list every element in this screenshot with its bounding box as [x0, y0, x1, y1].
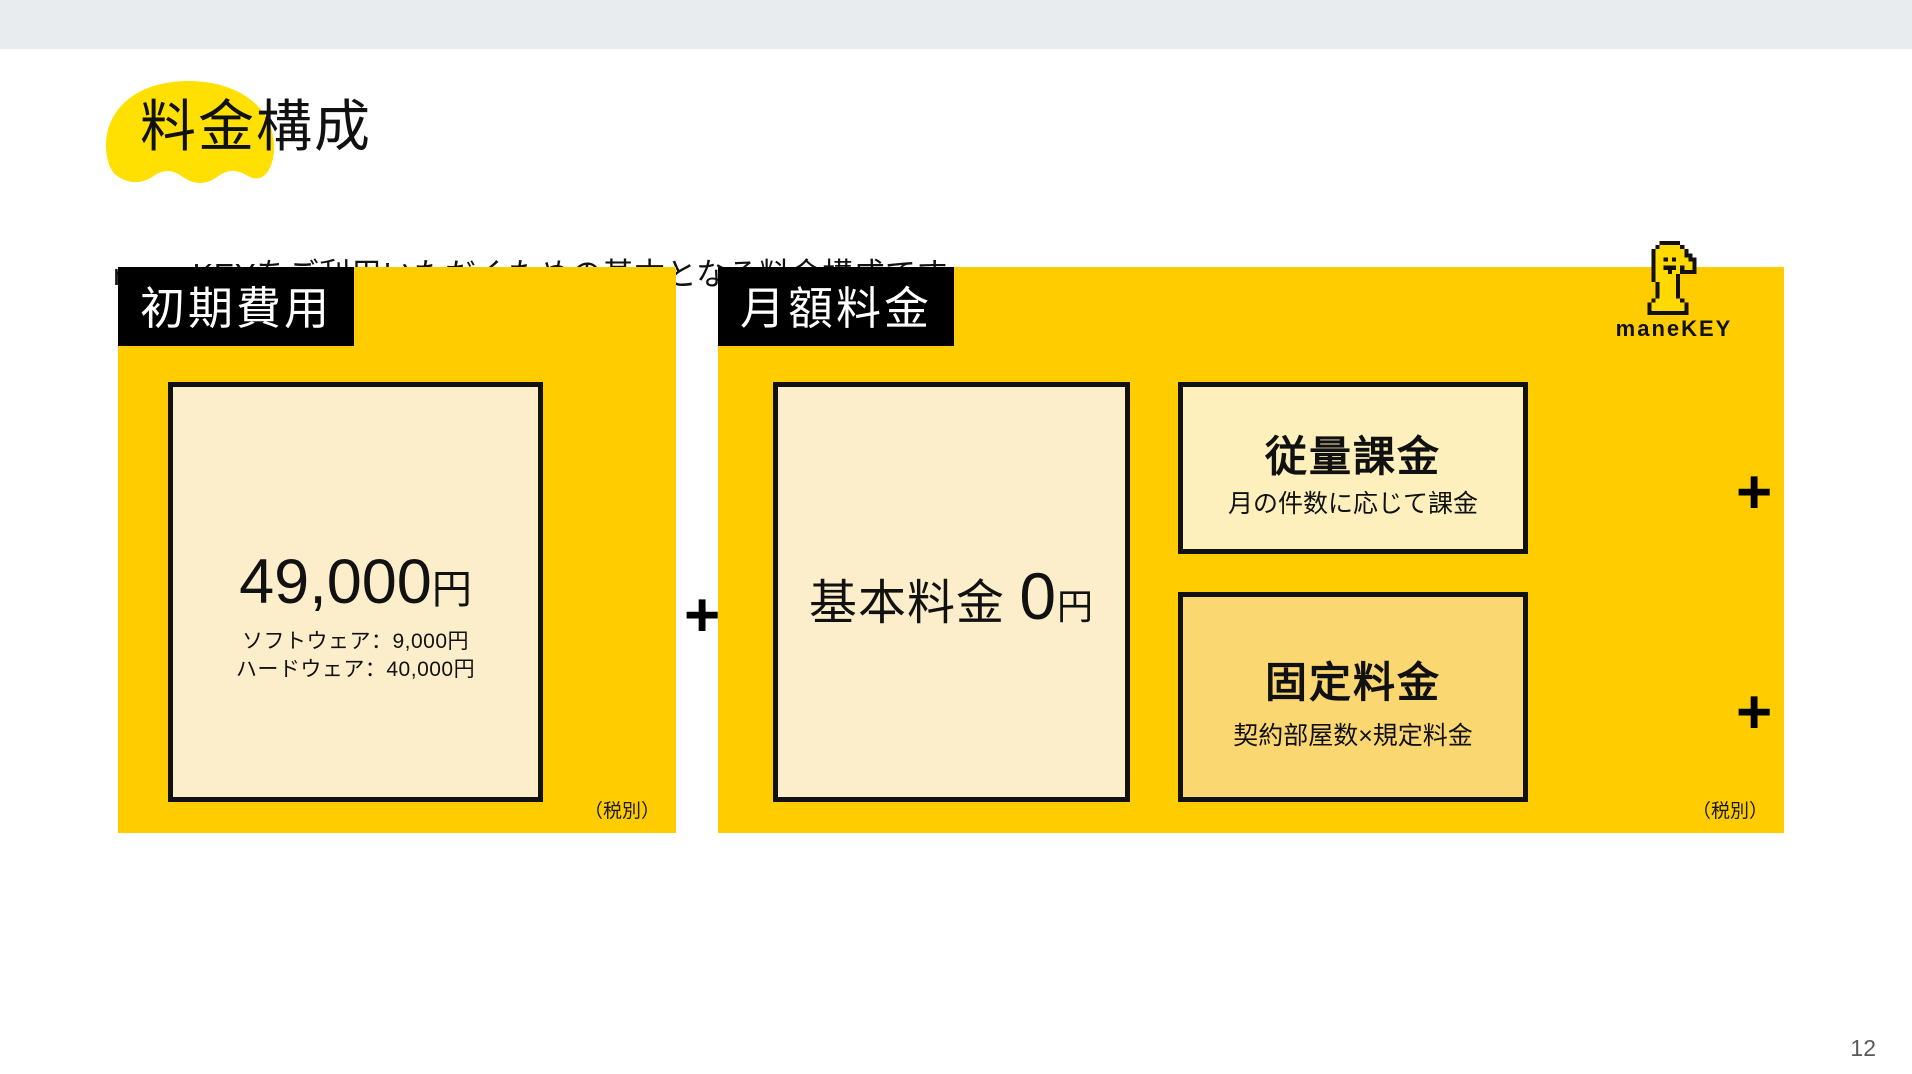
initial-price-amount: 49,000: [239, 547, 432, 617]
page-number: 12: [1850, 1035, 1876, 1062]
fixed-fee-title: 固定料金: [1183, 662, 1523, 704]
initial-tax-note: （税別）: [584, 796, 660, 823]
initial-price-note-software: ソフトウェア：9,000円: [173, 628, 538, 656]
browser-chrome-bar: [0, 0, 1912, 49]
manekey-logo-text: maneKEY: [1608, 316, 1740, 342]
card-metered-billing: 従量課金 月の件数に応じて課金: [1178, 382, 1528, 554]
base-fee-label: 基本料金: [809, 577, 1005, 630]
panel-monthly-fee-header: 月額料金: [718, 267, 954, 346]
initial-price: 49,000円: [173, 551, 538, 614]
page-title: 料金構成: [140, 99, 372, 155]
manekey-knight-icon: [1639, 241, 1709, 315]
monthly-tax-note: （税別）: [1692, 796, 1768, 823]
card-fixed-fee: 固定料金 契約部屋数×規定料金: [1178, 592, 1528, 802]
pricing-panels: 初期費用 49,000円 ソフトウェア：9,000円 ハードウェア：40,000…: [118, 267, 1784, 833]
initial-price-unit: 円: [432, 568, 472, 612]
initial-price-block: 49,000円 ソフトウェア：9,000円 ハードウェア：40,000円: [173, 551, 538, 685]
plus-icon-metered: +: [1736, 462, 1772, 524]
fixed-fee-subtitle: 契約部屋数×規定料金: [1183, 724, 1523, 749]
card-base-fee: 基本料金 0円: [773, 382, 1130, 802]
manekey-logo: maneKEY: [1608, 241, 1740, 342]
plus-icon-between-panels: +: [684, 585, 720, 647]
plus-icon-fixed: +: [1736, 682, 1772, 744]
panel-initial-cost-header: 初期費用: [118, 267, 354, 346]
panel-monthly-fee: 月額料金: [718, 267, 1784, 833]
initial-price-note-hardware: ハードウェア：40,000円: [173, 656, 538, 684]
slide-canvas: 料金構成 maneKEYをご利用いただくための基本となる料金構成です。 初期費用…: [0, 49, 1912, 1074]
base-fee-value: 0: [1019, 559, 1057, 633]
metered-billing-subtitle: 月の件数に応じて課金: [1183, 492, 1523, 517]
metered-billing-title: 従量課金: [1183, 436, 1523, 478]
base-fee-unit: 円: [1057, 586, 1094, 627]
page-title-block: 料金構成: [100, 69, 800, 209]
panel-initial-cost: 初期費用 49,000円 ソフトウェア：9,000円 ハードウェア：40,000…: [118, 267, 676, 833]
card-initial-cost: 49,000円 ソフトウェア：9,000円 ハードウェア：40,000円: [168, 382, 543, 802]
base-fee-text: 基本料金 0円: [778, 563, 1125, 629]
